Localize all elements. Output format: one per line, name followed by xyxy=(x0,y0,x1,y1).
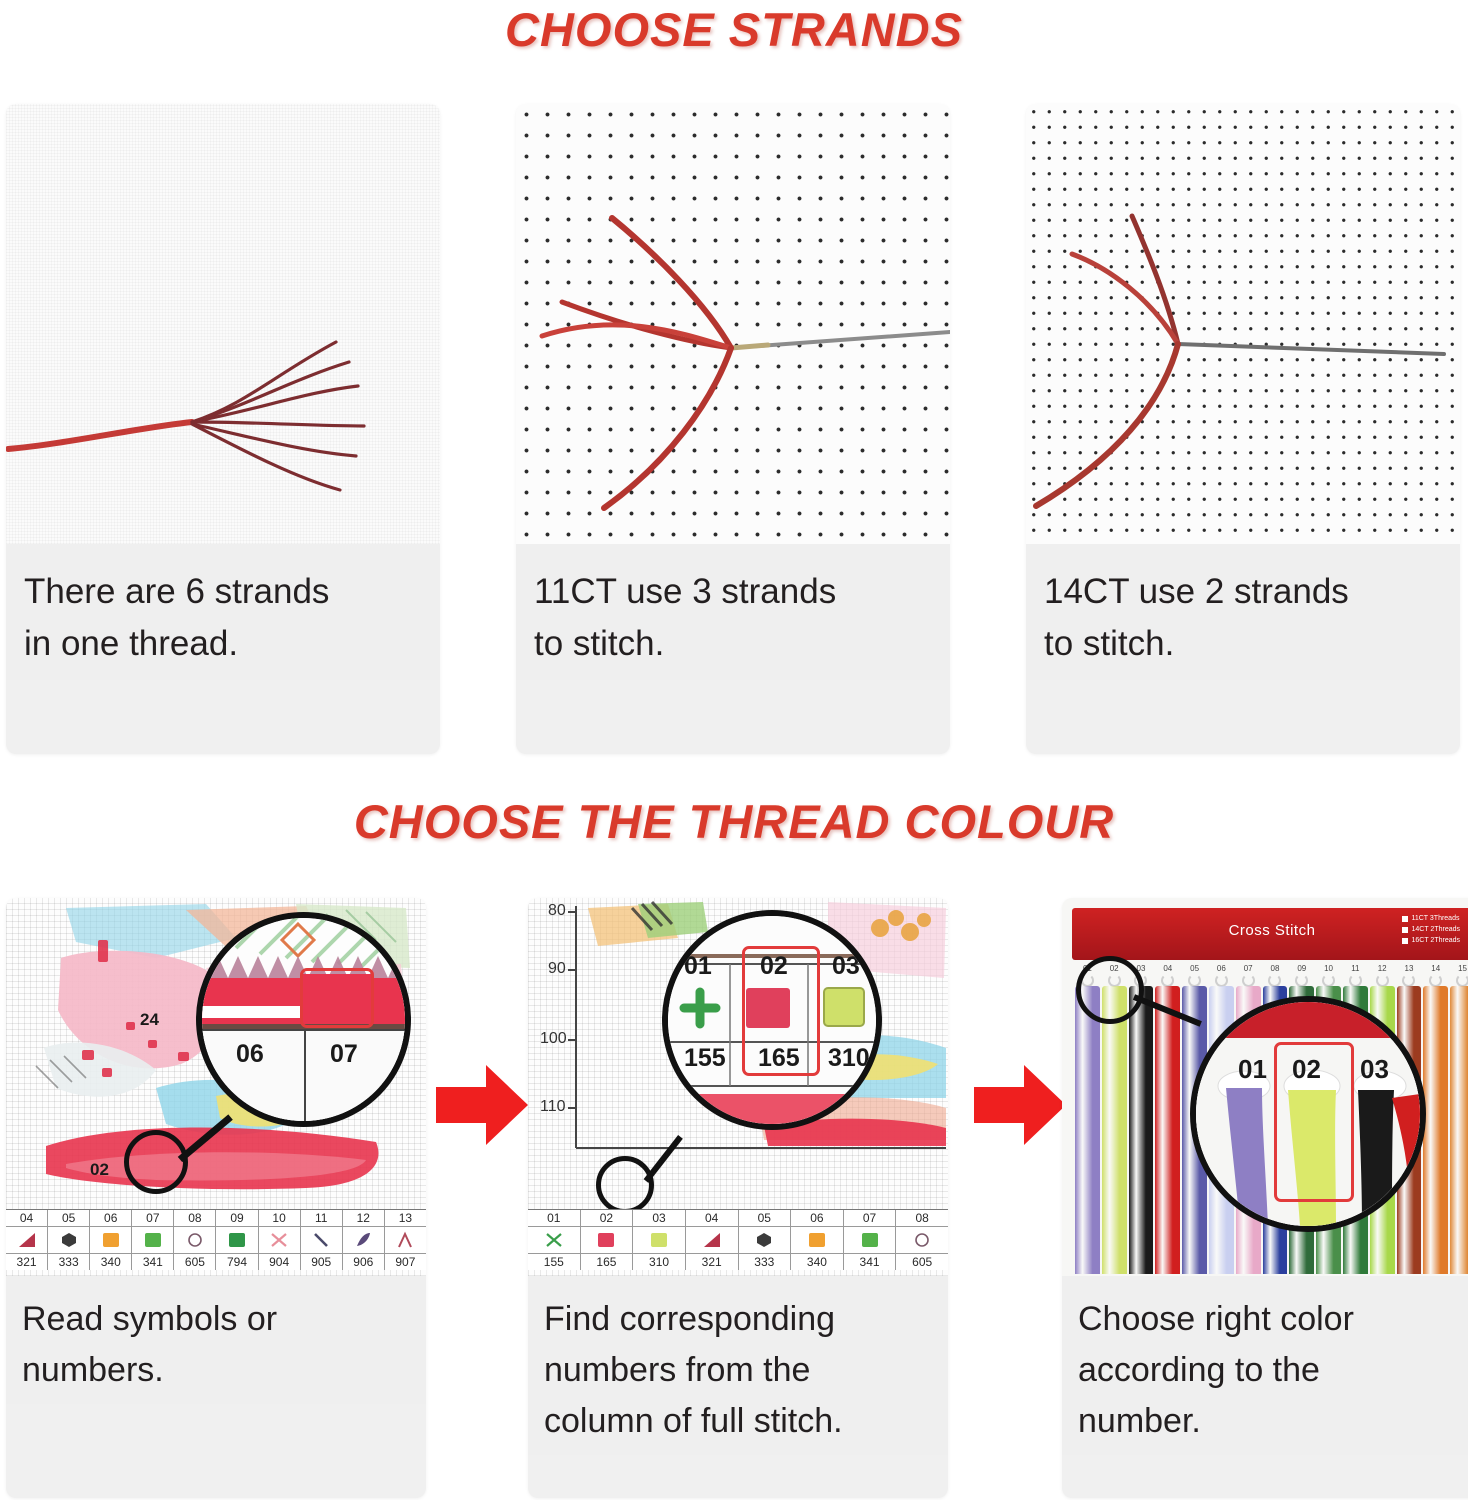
legend-table-symbols: 0432105333063400734108605097941090411905… xyxy=(6,1209,426,1270)
option-label: 16CT 2Threads xyxy=(1411,936,1460,947)
thread-3-strands-with-needle xyxy=(516,104,950,544)
photo-thread-card: Cross Stitch 11CT 3Threads 14CT 2Threads xyxy=(1062,898,1468,1276)
square-symbol-icon xyxy=(806,1230,828,1250)
legend-column: 07341 xyxy=(132,1210,174,1270)
magnified-dmc-155: 155 xyxy=(684,1044,726,1073)
legend-column: 06340 xyxy=(791,1210,844,1270)
magnifier-source-circle xyxy=(124,1130,188,1194)
legend-column: 10904 xyxy=(259,1210,301,1270)
legend-table-numbers: 0115502165033100432105333063400734108605 xyxy=(528,1209,948,1270)
caption-line-3: column of full stitch. xyxy=(544,1396,934,1447)
square-symbol-icon xyxy=(595,1230,617,1250)
caption-line-2: numbers from the xyxy=(544,1345,934,1396)
hanger-number: 04 xyxy=(1154,964,1181,973)
chart-cell-number-24: 24 xyxy=(140,1010,159,1030)
hanger-number: 09 xyxy=(1288,964,1315,973)
legend-symbol-cell xyxy=(791,1227,843,1254)
legend-dmc-number: 904 xyxy=(259,1254,300,1270)
option-row: 16CT 2Threads xyxy=(1402,936,1460,947)
hex-symbol-icon xyxy=(58,1230,80,1250)
caption-6-strands: There are 6 strands in one thread. xyxy=(6,544,440,680)
caption-read-symbols: Read symbols or numbers. xyxy=(6,1276,426,1404)
axis-tick-100: 100 xyxy=(540,1030,567,1048)
legend-symbol-cell xyxy=(385,1227,426,1254)
thread-skein xyxy=(1155,986,1180,1274)
legend-dmc-number: 341 xyxy=(844,1254,896,1270)
legend-column: 04321 xyxy=(6,1210,48,1270)
hanger-number: 05 xyxy=(1181,964,1208,973)
checkbox-icon[interactable] xyxy=(1402,938,1408,944)
thread-skein xyxy=(1423,986,1448,1274)
cross-symbol-icon xyxy=(543,1230,565,1250)
legend-dmc-number: 605 xyxy=(896,1254,948,1270)
legend-column: 13907 xyxy=(385,1210,426,1270)
legend-column-number: 04 xyxy=(686,1210,738,1227)
magnifier-highlight-box xyxy=(300,968,374,1028)
option-row: 11CT 3Threads xyxy=(1402,914,1460,925)
hanger-number: 06 xyxy=(1208,964,1235,973)
magnifier-lens-numbers: 01 02 03 155 165 310 xyxy=(662,910,882,1130)
legend-symbol-cell xyxy=(528,1227,580,1254)
legend-symbol-cell xyxy=(896,1227,948,1254)
legend-column-number: 06 xyxy=(791,1210,843,1227)
caption-line-1: There are 6 strands xyxy=(24,566,420,618)
magnifier-lens-symbols: 06 07 xyxy=(196,912,411,1127)
legend-dmc-number: 155 xyxy=(528,1254,580,1270)
legend-dmc-number: 310 xyxy=(633,1254,685,1270)
card-find-numbers: 80 90 100 110 xyxy=(528,898,948,1498)
legend-column: 03310 xyxy=(633,1210,686,1270)
photo-pattern-chart: 24 02 xyxy=(6,898,426,1276)
legend-dmc-number: 907 xyxy=(385,1254,426,1270)
slash-symbol-icon xyxy=(310,1230,332,1250)
checkbox-icon[interactable] xyxy=(1402,927,1408,933)
card-6-strands: There are 6 strands in one thread. xyxy=(6,104,440,754)
hanger-number: 07 xyxy=(1235,964,1262,973)
caption-line-1: Read symbols or xyxy=(22,1294,412,1345)
hanger-number: 14 xyxy=(1422,964,1449,973)
caption-line-2: according to the xyxy=(1078,1345,1468,1396)
option-label: 14CT 2Threads xyxy=(1411,925,1460,936)
thread-skein xyxy=(1075,986,1100,1274)
legend-symbol-cell xyxy=(48,1227,89,1254)
legend-column-number: 04 xyxy=(6,1210,47,1227)
legend-symbol-cell xyxy=(581,1227,633,1254)
legend-column: 07341 xyxy=(844,1210,897,1270)
thread-skein xyxy=(1102,986,1127,1274)
magnified-cell-number-07: 07 xyxy=(330,1040,358,1069)
legend-dmc-number: 321 xyxy=(686,1254,738,1270)
page-title-choose-colour: CHOOSE THE THREAD COLOUR xyxy=(0,794,1468,849)
magnified-col-03: 03 xyxy=(832,952,860,981)
caption-choose-color: Choose right color according to the numb… xyxy=(1062,1276,1468,1455)
axis-tick-110: 110 xyxy=(540,1098,566,1116)
legend-column-number: 02 xyxy=(581,1210,633,1227)
caption-line-2: to stitch. xyxy=(1044,618,1440,670)
magnified-dmc-165: 165 xyxy=(758,1044,800,1073)
cross-symbol-icon xyxy=(268,1230,290,1250)
caption-line-2: numbers. xyxy=(22,1345,412,1396)
photo-chart-with-axis: 80 90 100 110 xyxy=(528,898,948,1276)
page-title-choose-strands: CHOOSE STRANDS xyxy=(0,2,1468,57)
magnifier-source-circle xyxy=(596,1156,654,1214)
caption-line-2: to stitch. xyxy=(534,618,930,670)
magnified-hanger-01: 01 xyxy=(1238,1054,1267,1085)
card-14ct: 14CT use 2 strands to stitch. xyxy=(1026,104,1460,754)
triangle-symbol-icon xyxy=(16,1230,38,1250)
legend-symbol-cell xyxy=(739,1227,791,1254)
thread-card-header: Cross Stitch 11CT 3Threads 14CT 2Threads xyxy=(1072,908,1468,960)
caption-find-numbers: Find corresponding numbers from the colu… xyxy=(528,1276,948,1455)
legend-symbol-cell xyxy=(90,1227,131,1254)
caption-line-1: Find corresponding xyxy=(544,1294,934,1345)
legend-symbol-cell xyxy=(633,1227,685,1254)
legend-dmc-number: 340 xyxy=(90,1254,131,1270)
caption-11ct: 11CT use 3 strands to stitch. xyxy=(516,544,950,680)
hanger-number: 10 xyxy=(1315,964,1342,973)
square-symbol-icon xyxy=(648,1230,670,1250)
legend-dmc-number: 605 xyxy=(174,1254,215,1270)
arrow-shape xyxy=(972,1063,1068,1147)
hanger-number: 08 xyxy=(1262,964,1289,973)
photo-6-strands xyxy=(6,104,440,544)
thread-skein xyxy=(1450,986,1468,1274)
legend-dmc-number: 905 xyxy=(301,1254,342,1270)
caption-line-1: 14CT use 2 strands xyxy=(1044,566,1440,618)
legend-dmc-number: 165 xyxy=(581,1254,633,1270)
legend-column-number: 08 xyxy=(174,1210,215,1227)
option-row: 14CT 2Threads xyxy=(1402,925,1460,936)
hex-symbol-icon xyxy=(753,1230,775,1250)
legend-dmc-number: 794 xyxy=(216,1254,257,1270)
legend-column: 04321 xyxy=(686,1210,739,1270)
legend-dmc-number: 340 xyxy=(791,1254,843,1270)
axis-tick-80: 80 xyxy=(548,902,566,920)
hanger-number: 13 xyxy=(1396,964,1423,973)
legend-dmc-number: 321 xyxy=(6,1254,47,1270)
legend-symbol-cell xyxy=(686,1227,738,1254)
circle-symbol-icon xyxy=(911,1230,933,1250)
square-symbol-icon xyxy=(226,1230,248,1250)
legend-column-number: 05 xyxy=(48,1210,89,1227)
card-read-symbols: 24 02 xyxy=(6,898,426,1498)
legend-column: 08605 xyxy=(174,1210,216,1270)
caption-line-2: in one thread. xyxy=(24,618,420,670)
magnifier-source-circle xyxy=(1076,956,1144,1024)
legend-symbol-cell xyxy=(259,1227,300,1254)
hanger-number: 12 xyxy=(1369,964,1396,973)
legend-symbol-cell xyxy=(174,1227,215,1254)
caption-14ct: 14CT use 2 strands to stitch. xyxy=(1026,544,1460,680)
legend-symbol-cell xyxy=(844,1227,896,1254)
legend-dmc-number: 333 xyxy=(739,1254,791,1270)
caption-line-1: 11CT use 3 strands xyxy=(534,566,930,618)
ct-options-list: 11CT 3Threads 14CT 2Threads 16CT 2Thread… xyxy=(1402,914,1460,947)
legend-column: 05333 xyxy=(739,1210,792,1270)
magnified-hanger-02: 02 xyxy=(1292,1054,1321,1085)
hanger-number: 15 xyxy=(1449,964,1468,973)
caption-line-1: Choose right color xyxy=(1078,1294,1468,1345)
legend-column-number: 06 xyxy=(90,1210,131,1227)
legend-column-number: 09 xyxy=(216,1210,257,1227)
legend-column-number: 11 xyxy=(301,1210,342,1227)
legend-symbol-cell xyxy=(216,1227,257,1254)
legend-column: 05333 xyxy=(48,1210,90,1270)
axis-tick-90: 90 xyxy=(548,960,566,978)
triangle-symbol-icon xyxy=(701,1230,723,1250)
legend-column-number: 05 xyxy=(739,1210,791,1227)
magnified-col-02: 02 xyxy=(760,952,788,981)
legend-column-number: 10 xyxy=(259,1210,300,1227)
legend-column: 02165 xyxy=(581,1210,634,1270)
instruction-infographic: CHOOSE STRANDS There are 6 strands in on… xyxy=(0,0,1468,1500)
legend-dmc-number: 333 xyxy=(48,1254,89,1270)
legend-column-number: 08 xyxy=(896,1210,948,1227)
caret-symbol-icon xyxy=(394,1230,416,1250)
legend-column: 11905 xyxy=(301,1210,343,1270)
photo-11ct-aida xyxy=(516,104,950,544)
legend-column: 06340 xyxy=(90,1210,132,1270)
magnifier-lens-skeins: 01 02 03 xyxy=(1190,996,1426,1232)
chart-cell-number-02: 02 xyxy=(90,1160,109,1180)
magnified-hanger-03: 03 xyxy=(1360,1054,1389,1085)
leaf-symbol-icon xyxy=(352,1230,374,1250)
hanger-number: 11 xyxy=(1342,964,1369,973)
card-11ct: 11CT use 3 strands to stitch. xyxy=(516,104,950,754)
circle-symbol-icon xyxy=(184,1230,206,1250)
legend-column: 09794 xyxy=(216,1210,258,1270)
legend-symbol-cell xyxy=(132,1227,173,1254)
legend-symbol-cell xyxy=(343,1227,384,1254)
legend-column-number: 07 xyxy=(844,1210,896,1227)
legend-column-number: 01 xyxy=(528,1210,580,1227)
legend-symbol-cell xyxy=(301,1227,342,1254)
arrow-shape xyxy=(434,1063,530,1147)
caption-line-3: number. xyxy=(1078,1396,1468,1447)
photo-14ct-aida xyxy=(1026,104,1460,544)
legend-column-number: 12 xyxy=(343,1210,384,1227)
legend-column-number: 07 xyxy=(132,1210,173,1227)
square-symbol-icon xyxy=(142,1230,164,1250)
magnified-cell-number-06: 06 xyxy=(236,1040,264,1069)
thread-skein xyxy=(1129,986,1154,1274)
magnified-dmc-310: 310 xyxy=(828,1044,870,1073)
legend-dmc-number: 906 xyxy=(343,1254,384,1270)
legend-column: 12906 xyxy=(343,1210,385,1270)
thread-2-strands-with-needle xyxy=(1026,104,1460,544)
square-symbol-icon xyxy=(859,1230,881,1250)
square-symbol-icon xyxy=(100,1230,122,1250)
card-choose-color: Cross Stitch 11CT 3Threads 14CT 2Threads xyxy=(1062,898,1468,1498)
magnified-col-01: 01 xyxy=(684,952,712,981)
legend-symbol-cell xyxy=(6,1227,47,1254)
legend-column-number: 03 xyxy=(633,1210,685,1227)
legend-column: 08605 xyxy=(896,1210,948,1270)
thread-strands-illustration xyxy=(6,104,440,544)
option-label: 11CT 3Threads xyxy=(1411,914,1459,925)
legend-column: 01155 xyxy=(528,1210,581,1270)
checkbox-icon[interactable] xyxy=(1402,916,1408,922)
legend-dmc-number: 341 xyxy=(132,1254,173,1270)
legend-column-number: 13 xyxy=(385,1210,426,1227)
